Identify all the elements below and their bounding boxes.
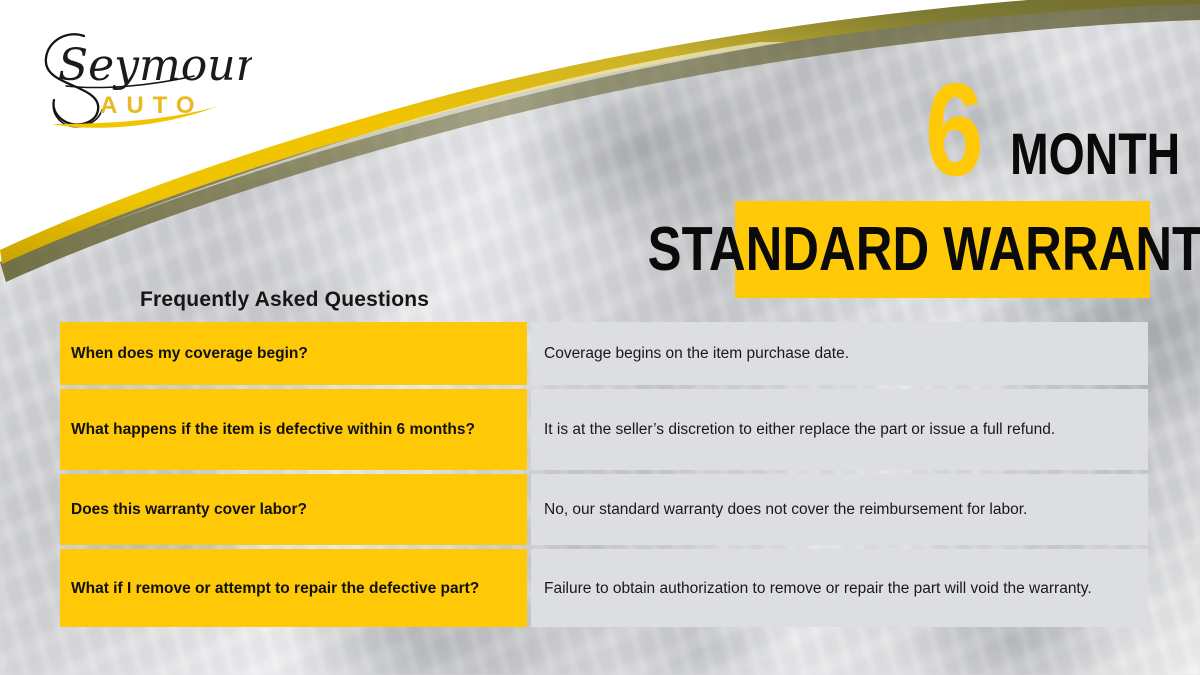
table-row: Does this warranty cover labor? No, our …: [60, 474, 1148, 545]
faq-answer-text: It is at the seller’s discretion to eith…: [544, 419, 1137, 440]
faq-answer-cell: It is at the seller’s discretion to eith…: [531, 389, 1148, 470]
warranty-duration-number: 6: [925, 64, 982, 196]
standard-warranty-banner: STANDARD WARRANTY: [735, 201, 1150, 298]
faq-question-text: When does my coverage begin?: [71, 343, 308, 364]
warranty-slide: Seymour AUTO 6 MONTH STANDARD WARRANTY F…: [0, 0, 1200, 675]
faq-section-title: Frequently Asked Questions: [140, 288, 429, 312]
warranty-duration-unit: MONTH: [1010, 126, 1180, 184]
faq-answer-cell: Failure to obtain authorization to remov…: [531, 549, 1148, 627]
faq-question-cell: Does this warranty cover labor?: [60, 474, 527, 545]
standard-warranty-label: STANDARD WARRANTY: [648, 219, 1200, 281]
faq-question-text: What happens if the item is defective wi…: [71, 419, 475, 440]
faq-answer-text: No, our standard warranty does not cover…: [544, 499, 1137, 520]
table-row: What if I remove or attempt to repair th…: [60, 549, 1148, 627]
faq-question-cell: What happens if the item is defective wi…: [60, 389, 527, 470]
warranty-headline: 6 MONTH STANDARD WARRANTY: [0, 0, 1200, 310]
table-row: What happens if the item is defective wi…: [60, 389, 1148, 470]
faq-answer-cell: No, our standard warranty does not cover…: [531, 474, 1148, 545]
table-row: When does my coverage begin? Coverage be…: [60, 322, 1148, 385]
faq-question-text: Does this warranty cover labor?: [71, 499, 307, 520]
faq-answer-text: Coverage begins on the item purchase dat…: [544, 343, 1137, 364]
faq-table: When does my coverage begin? Coverage be…: [60, 322, 1148, 627]
faq-question-cell: When does my coverage begin?: [60, 322, 527, 385]
faq-answer-cell: Coverage begins on the item purchase dat…: [531, 322, 1148, 385]
faq-question-text: What if I remove or attempt to repair th…: [71, 578, 479, 599]
faq-question-cell: What if I remove or attempt to repair th…: [60, 549, 527, 627]
faq-answer-text: Failure to obtain authorization to remov…: [544, 578, 1137, 599]
